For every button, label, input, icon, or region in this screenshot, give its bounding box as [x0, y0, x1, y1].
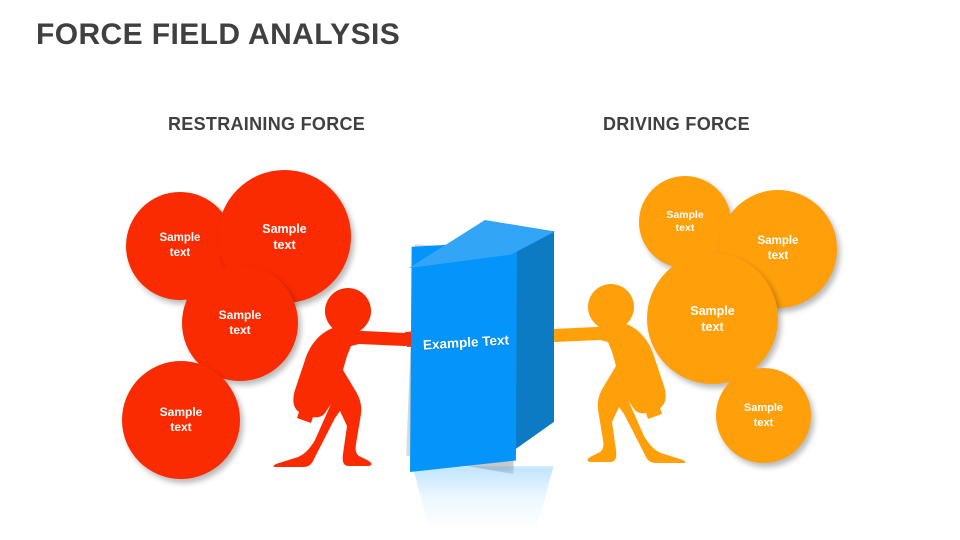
- restraining-bubble-label-1: Sampletext: [160, 231, 201, 260]
- bubble-text-line1: Sample: [666, 209, 703, 222]
- bubble-text-line1: Sample: [758, 234, 799, 249]
- driving-bubble-label-1: Sampletext: [666, 209, 703, 236]
- box-label-line1: Example: [423, 334, 479, 352]
- bubble-text-line2: text: [758, 249, 799, 264]
- bubble-text-line2: text: [262, 237, 306, 253]
- heading-restraining-force: RESTRAINING FORCE: [168, 114, 365, 135]
- bubble-text-line1: Sample: [160, 405, 203, 420]
- page-title: FORCE FIELD ANALYSIS: [36, 18, 400, 52]
- driving-bubble-label-2: Sampletext: [758, 234, 799, 263]
- bubble-text-line2: text: [160, 246, 201, 261]
- box-front-face: [410, 241, 517, 472]
- restraining-bubble-4[interactable]: Sampletext: [122, 361, 240, 479]
- heading-driving-force: DRIVING FORCE: [603, 114, 750, 135]
- driving-bubble-4[interactable]: Sampletext: [716, 368, 811, 463]
- box-label-line2: Text: [482, 332, 510, 349]
- bubble-text-line1: Sample: [262, 221, 306, 237]
- restraining-bubble-label-4: Sampletext: [160, 405, 203, 436]
- bubble-text-line2: text: [160, 420, 203, 435]
- slide-canvas: FORCE FIELD ANALYSIS RESTRAINING FORCE D…: [0, 0, 960, 540]
- driving-bubble-label-4: Sampletext: [744, 401, 783, 429]
- bubble-text-line1: Sample: [160, 231, 201, 246]
- box-reflection: [408, 466, 558, 528]
- center-3d-box: Example Text: [400, 208, 560, 478]
- bubble-text-line1: Sample: [744, 401, 783, 415]
- bubble-text-line2: text: [666, 222, 703, 235]
- bubble-text-line2: text: [744, 416, 783, 430]
- restraining-bubble-label-2: Sampletext: [262, 221, 306, 253]
